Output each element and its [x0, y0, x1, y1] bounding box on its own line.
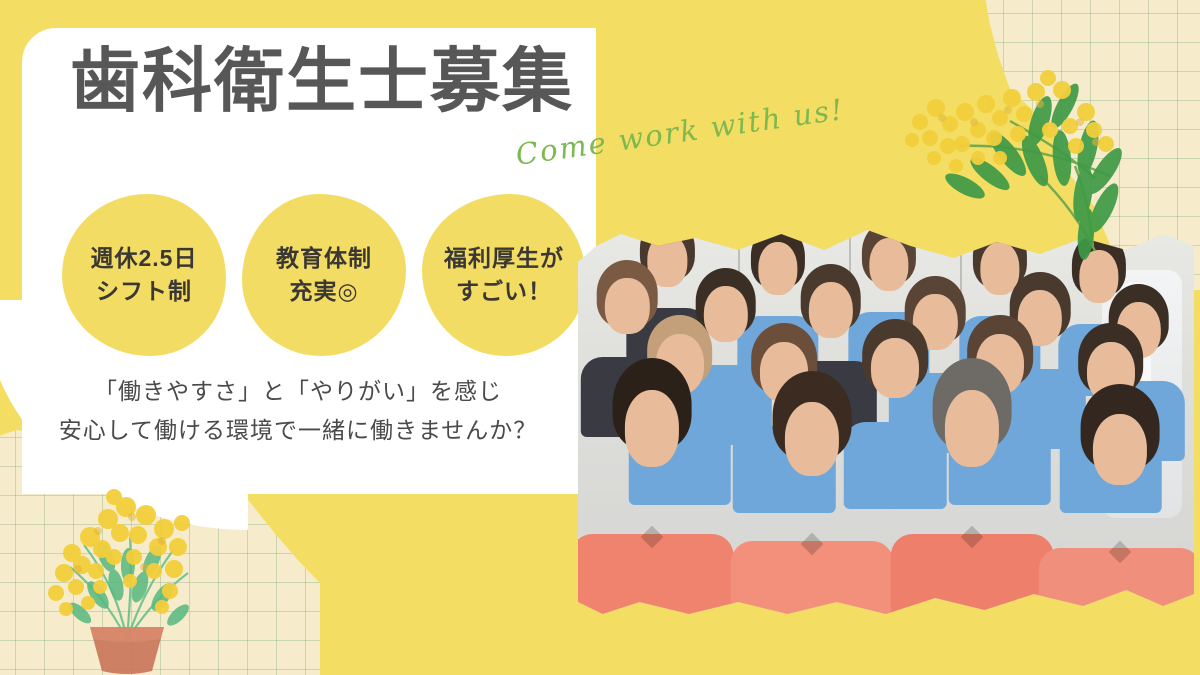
badge-benefits-line1: 福利厚生が	[444, 242, 564, 275]
badge-shift-line2: シフト制	[96, 275, 192, 308]
badge-training: 教育体制 充実◎	[242, 194, 406, 356]
lead-copy: 「働きやすさ」と「やりがい」を感じ 安心して働ける環境で一緒に働きませんか？	[0, 372, 596, 450]
feature-badge-group: 週休2.5日 シフト制 教育体制 充実◎ 福利厚生が すごい！	[62, 194, 586, 356]
person-front-4	[1058, 414, 1181, 622]
person-front-2	[750, 402, 873, 622]
badge-shift: 週休2.5日 シフト制	[62, 194, 226, 356]
page-title: 歯科衛生士募集	[70, 44, 574, 120]
lead-line-1: 「働きやすさ」と「やりがい」を感じ	[0, 372, 596, 411]
badge-benefits-line2: すごい！	[456, 275, 552, 308]
recruitment-banner: 歯科衛生士募集 Come work with us! 週休2.5日 シフト制 教…	[0, 0, 1200, 675]
badge-training-line1: 教育体制	[276, 242, 372, 275]
team-photo-image	[578, 222, 1194, 622]
badge-shift-line1: 週休2.5日	[91, 242, 198, 275]
badge-training-line2: 充実◎	[289, 275, 358, 308]
person-front-3	[911, 390, 1034, 622]
lead-line-2: 安心して働ける環境で一緒に働きませんか？	[0, 411, 596, 450]
badge-benefits: 福利厚生が すごい！	[422, 194, 586, 356]
team-photo	[578, 222, 1194, 622]
person-front-1	[590, 390, 713, 622]
